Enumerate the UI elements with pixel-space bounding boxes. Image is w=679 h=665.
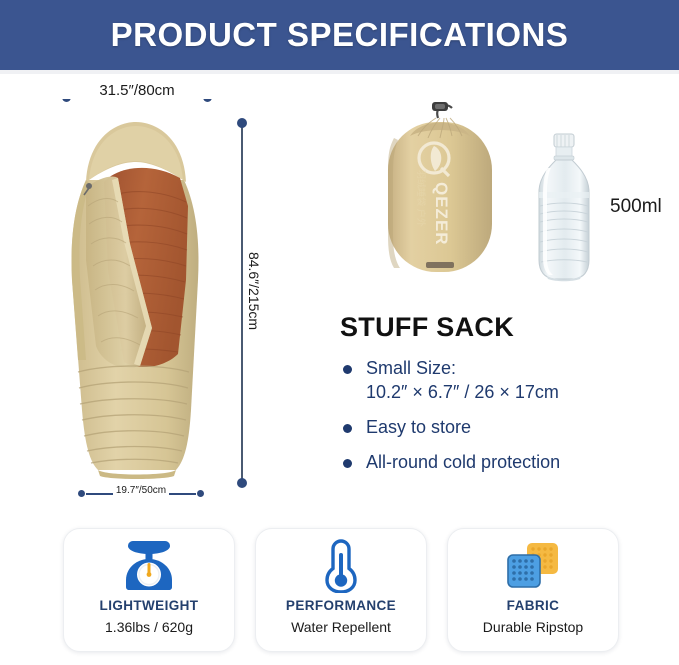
drawcord-toggle-icon xyxy=(432,102,452,118)
ripstop-fabric-icon xyxy=(505,538,561,594)
thermometer-icon xyxy=(321,538,361,594)
feature-subtitle: Durable Ripstop xyxy=(483,619,583,635)
stuff-sack-illustration: QEZER 羽绒睡袋 户外 xyxy=(380,96,500,286)
feature-card-performance: PERFORMANCE Water Repellent xyxy=(255,528,427,652)
feature-subtitle: Water Repellent xyxy=(291,619,391,635)
feature-card-fabric: FABRIC Durable Ripstop xyxy=(447,528,619,652)
kitchen-scale-icon xyxy=(122,538,176,594)
list-item-line1: Small Size: xyxy=(366,358,456,378)
feature-title: FABRIC xyxy=(507,598,560,613)
sleeping-bag-illustration xyxy=(56,110,226,482)
sleeping-bag-section: 31.5″/80cm xyxy=(0,74,262,514)
bullet-icon xyxy=(343,424,352,433)
dimension-width-top-label: 31.5″/80cm xyxy=(95,82,178,99)
dimension-width-bottom-label: 19.7″/50cm xyxy=(113,485,169,496)
list-item-line1: All-round cold protection xyxy=(366,452,560,472)
dimension-width-top-label-wrap: 31.5″/80cm xyxy=(62,82,212,99)
dimension-width-top: 31.5″/80cm xyxy=(62,88,212,108)
list-item: Small Size: 10.2″ × 6.7″ / 26 × 17cm xyxy=(340,357,670,405)
stuff-sack-feature-list: Small Size: 10.2″ × 6.7″ / 26 × 17cm Eas… xyxy=(340,357,670,475)
stuff-sack-info: STUFF SACK Small Size: 10.2″ × 6.7″ / 26… xyxy=(340,312,670,486)
feature-title: LIGHTWEIGHT xyxy=(100,598,199,613)
stuff-sack-visual-row: QEZER 羽绒睡袋 户外 xyxy=(338,96,668,296)
list-item-line1: Easy to store xyxy=(366,417,471,437)
bottle-volume-label: 500ml xyxy=(610,196,662,218)
product-specifications-page: PRODUCT SPECIFICATIONS 31.5″/80cm xyxy=(0,0,679,665)
feature-cards: LIGHTWEIGHT 1.36lbs / 620g PERFORMANCE W… xyxy=(63,528,619,652)
page-title: PRODUCT SPECIFICATIONS xyxy=(111,16,569,54)
dimension-length: 84.6″/215cm xyxy=(233,118,267,488)
dimension-cap-top xyxy=(237,118,247,128)
list-item: All-round cold protection xyxy=(340,451,670,475)
bullet-icon xyxy=(343,365,352,374)
water-bottle-illustration xyxy=(528,132,600,282)
list-item-line2: 10.2″ × 6.7″ / 26 × 17cm xyxy=(366,381,670,405)
feature-title: PERFORMANCE xyxy=(286,598,396,613)
dimension-cap-bottom xyxy=(237,478,247,488)
dimension-width-bottom-label-wrap: 19.7″/50cm xyxy=(78,485,204,496)
brand-wordmark: QEZER xyxy=(432,182,451,246)
header-banner: PRODUCT SPECIFICATIONS xyxy=(0,0,679,70)
brand-subtext: 羽绒睡袋 户外 xyxy=(415,170,427,227)
stuff-sack-heading: STUFF SACK xyxy=(340,312,670,343)
feature-card-lightweight: LIGHTWEIGHT 1.36lbs / 620g xyxy=(63,528,235,652)
bullet-icon xyxy=(343,459,352,468)
dimension-width-bottom: 19.7″/50cm xyxy=(78,486,204,502)
list-item: Easy to store xyxy=(340,416,670,440)
dimension-line-vertical xyxy=(241,123,243,481)
dimension-length-label: 84.6″/215cm xyxy=(246,196,262,386)
feature-subtitle: 1.36lbs / 620g xyxy=(105,619,193,635)
